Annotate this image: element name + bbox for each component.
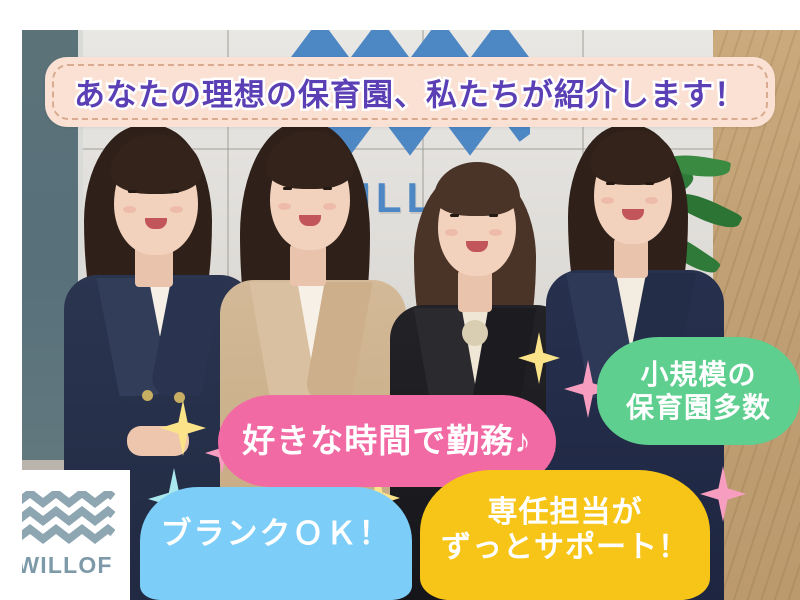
bubble-dedicated-support: 専任担当が ずっとサポート！ bbox=[420, 470, 710, 600]
willof-wordmark: WILLOF bbox=[17, 552, 112, 579]
frame-top-margin bbox=[0, 0, 800, 30]
headline-text: あなたの理想の保育園、私たちが紹介します！ bbox=[45, 70, 775, 115]
bubble-small-nurseries: 小規模の 保育園多数 bbox=[597, 337, 800, 445]
frame-left-margin bbox=[0, 0, 22, 600]
advertisement-banner: WILLOF bbox=[0, 0, 800, 600]
headline-banner: あなたの理想の保育園、私たちが紹介します！ bbox=[45, 57, 775, 127]
willof-wave-mark bbox=[15, 491, 115, 547]
bubble-blank-ok: ブランクＯＫ！ bbox=[140, 487, 412, 600]
